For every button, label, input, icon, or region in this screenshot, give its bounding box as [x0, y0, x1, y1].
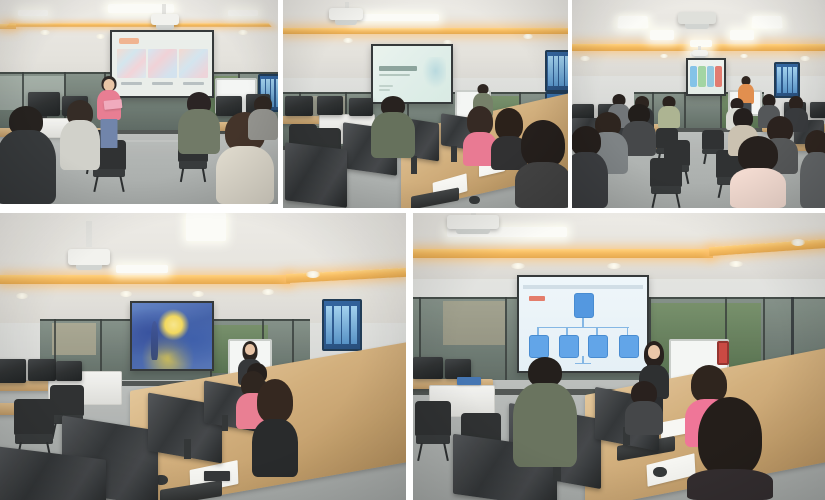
student — [513, 357, 577, 467]
chair — [650, 158, 682, 208]
projection-screen — [110, 30, 214, 98]
ceiling-projector — [151, 14, 179, 25]
photo-top-center[interactable] — [283, 0, 568, 208]
student — [515, 120, 568, 208]
student — [178, 92, 220, 154]
student — [625, 381, 663, 435]
slide-card-grid — [688, 60, 724, 94]
wall-poster — [322, 299, 362, 351]
photo-top-right[interactable] — [572, 0, 825, 208]
slide-illustration-triptych — [112, 32, 212, 96]
student — [0, 106, 56, 204]
ceiling-projector — [68, 249, 110, 265]
student — [730, 136, 786, 208]
wall-poster — [774, 62, 800, 98]
student — [371, 96, 415, 158]
photo-bottom-left[interactable] — [0, 213, 406, 500]
ceiling-projector — [447, 215, 499, 229]
chair — [415, 401, 451, 461]
photo-collage — [0, 0, 825, 500]
student — [60, 100, 100, 170]
photo-top-left[interactable] — [0, 0, 278, 204]
photo-bottom-right[interactable] — [413, 213, 825, 500]
wall-poster — [545, 50, 568, 92]
projection-screen — [130, 301, 214, 371]
student — [252, 379, 298, 477]
slide-title — [373, 46, 451, 102]
student — [248, 96, 278, 140]
projection-screen — [371, 44, 453, 104]
slide-starry-night — [132, 303, 212, 369]
air-vent — [678, 12, 716, 24]
student — [687, 397, 773, 500]
student — [658, 96, 680, 128]
ceiling-projector — [329, 8, 363, 20]
wall-poster — [717, 341, 729, 365]
student — [800, 130, 825, 208]
projection-screen — [686, 58, 726, 96]
student — [572, 126, 608, 208]
